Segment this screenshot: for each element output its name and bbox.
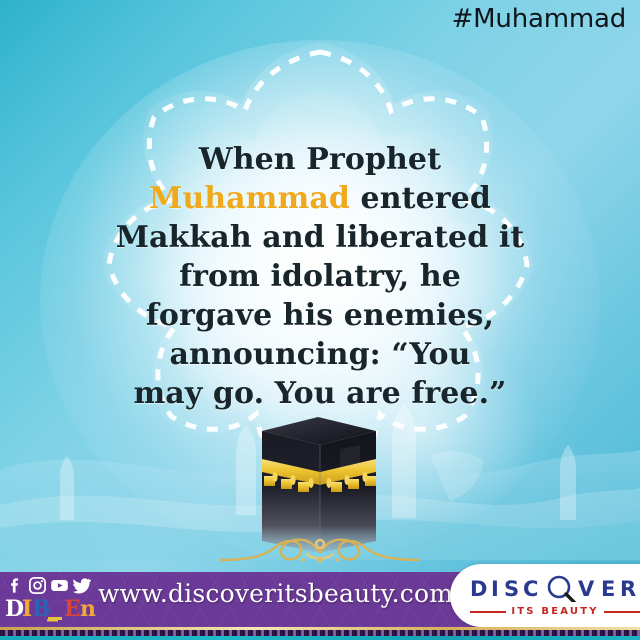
tagline-rule-right (604, 611, 640, 613)
quote-line: Muhammad entered (70, 179, 570, 218)
svg-text:R: R (620, 577, 638, 601)
quote-line: announcing: “You (70, 335, 570, 374)
footer-teal-strip (0, 636, 640, 640)
svg-text:n: n (80, 596, 96, 622)
quote-segment: announcing: “You (170, 337, 471, 372)
quote-segment: from idolatry, he (179, 259, 461, 294)
svg-text:E: E (601, 577, 617, 601)
quote-segment: entered (350, 181, 491, 216)
quote-text: When ProphetMuhammad enteredMakkah and l… (70, 140, 570, 413)
discover-tagline: ITS BEAUTY (511, 606, 598, 617)
discover-tagline-row: ITS BEAUTY (470, 604, 640, 619)
svg-text:I: I (491, 577, 501, 601)
tagline-rule-left (470, 611, 506, 613)
quote-line: forgave his enemies, (70, 296, 570, 335)
svg-text:V: V (578, 577, 596, 601)
svg-text:S: S (504, 577, 521, 601)
svg-text:C: C (523, 577, 540, 601)
quote-segment: may go. You are free.” (133, 376, 506, 411)
svg-text:D: D (470, 577, 489, 601)
quote-highlight-word: Muhammad (149, 181, 350, 216)
social-icons (6, 576, 91, 595)
footer-bar: D I B _ E n www.discoveritsbeauty.com D … (0, 557, 640, 640)
twitter-icon[interactable] (72, 576, 91, 595)
instagram-icon[interactable] (28, 576, 47, 595)
quote-line: Makkah and liberated it (70, 218, 570, 257)
quote-line: When Prophet (70, 140, 570, 179)
facebook-icon[interactable] (6, 576, 25, 595)
quote-segment: forgave his enemies, (146, 298, 494, 333)
social-media-quote-card: #Muhammad When ProphetMuhammad enteredMa… (0, 0, 640, 640)
website-url[interactable]: www.discoveritsbeauty.com (98, 579, 448, 608)
quote-segment: Makkah and liberated it (116, 220, 525, 255)
svg-text:E: E (64, 596, 81, 622)
quote-segment: When Prophet (199, 142, 441, 177)
discover-logo[interactable]: D I S C V E R ITS BEAUTY (450, 564, 640, 627)
quote-line: may go. You are free.” (70, 374, 570, 413)
youtube-icon[interactable] (50, 576, 69, 595)
svg-text:I: I (22, 596, 32, 622)
magnifier-icon (549, 577, 576, 602)
handle-logo[interactable]: D I B _ E n (4, 596, 108, 622)
discover-wordmark: D I S C V E R (470, 575, 640, 602)
quote-line: from idolatry, he (70, 257, 570, 296)
hashtag-label: #Muhammad (452, 4, 626, 34)
